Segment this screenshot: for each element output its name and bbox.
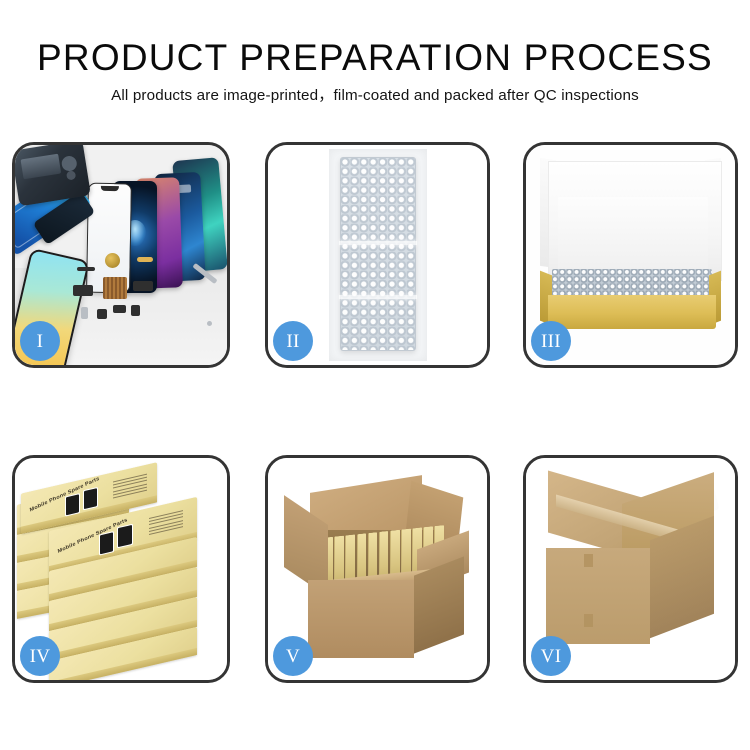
step-card-5[interactable]: V [265, 455, 490, 683]
step-badge-2: II [273, 321, 313, 361]
part-sim-tray [81, 307, 88, 319]
retail-box-screen-img-b [83, 487, 98, 510]
retail-box-screen-img-d [117, 524, 133, 549]
foam-padding-sheet [558, 197, 708, 271]
retail-box-screen-img-a [65, 493, 80, 516]
step-card-4[interactable]: Mobile Phone Spare Parts Mobile Phone Sp… [12, 455, 230, 683]
sealed-carton-seam-upper [584, 554, 593, 567]
step-badge-3: III [531, 321, 571, 361]
part-flex-cable-left [73, 285, 93, 296]
step-card-2[interactable]: II [265, 142, 490, 368]
retail-box-screen-img-c [99, 531, 114, 555]
part-ic-grid [103, 277, 127, 299]
bubble-pouch-seam-lower [339, 295, 417, 299]
step-card-6[interactable]: VI [523, 455, 738, 683]
step-badge-4: IV [20, 636, 60, 676]
bubble-pouch-seam-upper [339, 241, 417, 245]
bubble-wrap-sheet [340, 157, 416, 351]
part-camera-module [113, 305, 126, 313]
part-flex-cable-right [133, 281, 153, 291]
process-steps-grid: I II [0, 0, 750, 750]
step-badge-6: VI [531, 636, 571, 676]
step-card-3[interactable]: III [523, 142, 738, 368]
part-speaker-coil [105, 253, 120, 268]
part-connector-small [131, 305, 140, 316]
part-screws [207, 321, 212, 326]
product-preparation-infographic: PRODUCT PREPARATION PROCESS All products… [0, 0, 750, 750]
inner-box-front-panel [548, 295, 716, 329]
part-flex-cable-top [137, 257, 153, 262]
sealed-carton-front-panel [546, 548, 650, 644]
carton-front-panel [308, 580, 414, 658]
part-vibrator-motor [97, 309, 107, 319]
step-card-1[interactable]: I [12, 142, 230, 368]
step-badge-5: V [273, 636, 313, 676]
sealed-carton-seam-lower [584, 614, 593, 627]
step-badge-1: I [20, 321, 60, 361]
part-antenna-bar [77, 267, 95, 271]
